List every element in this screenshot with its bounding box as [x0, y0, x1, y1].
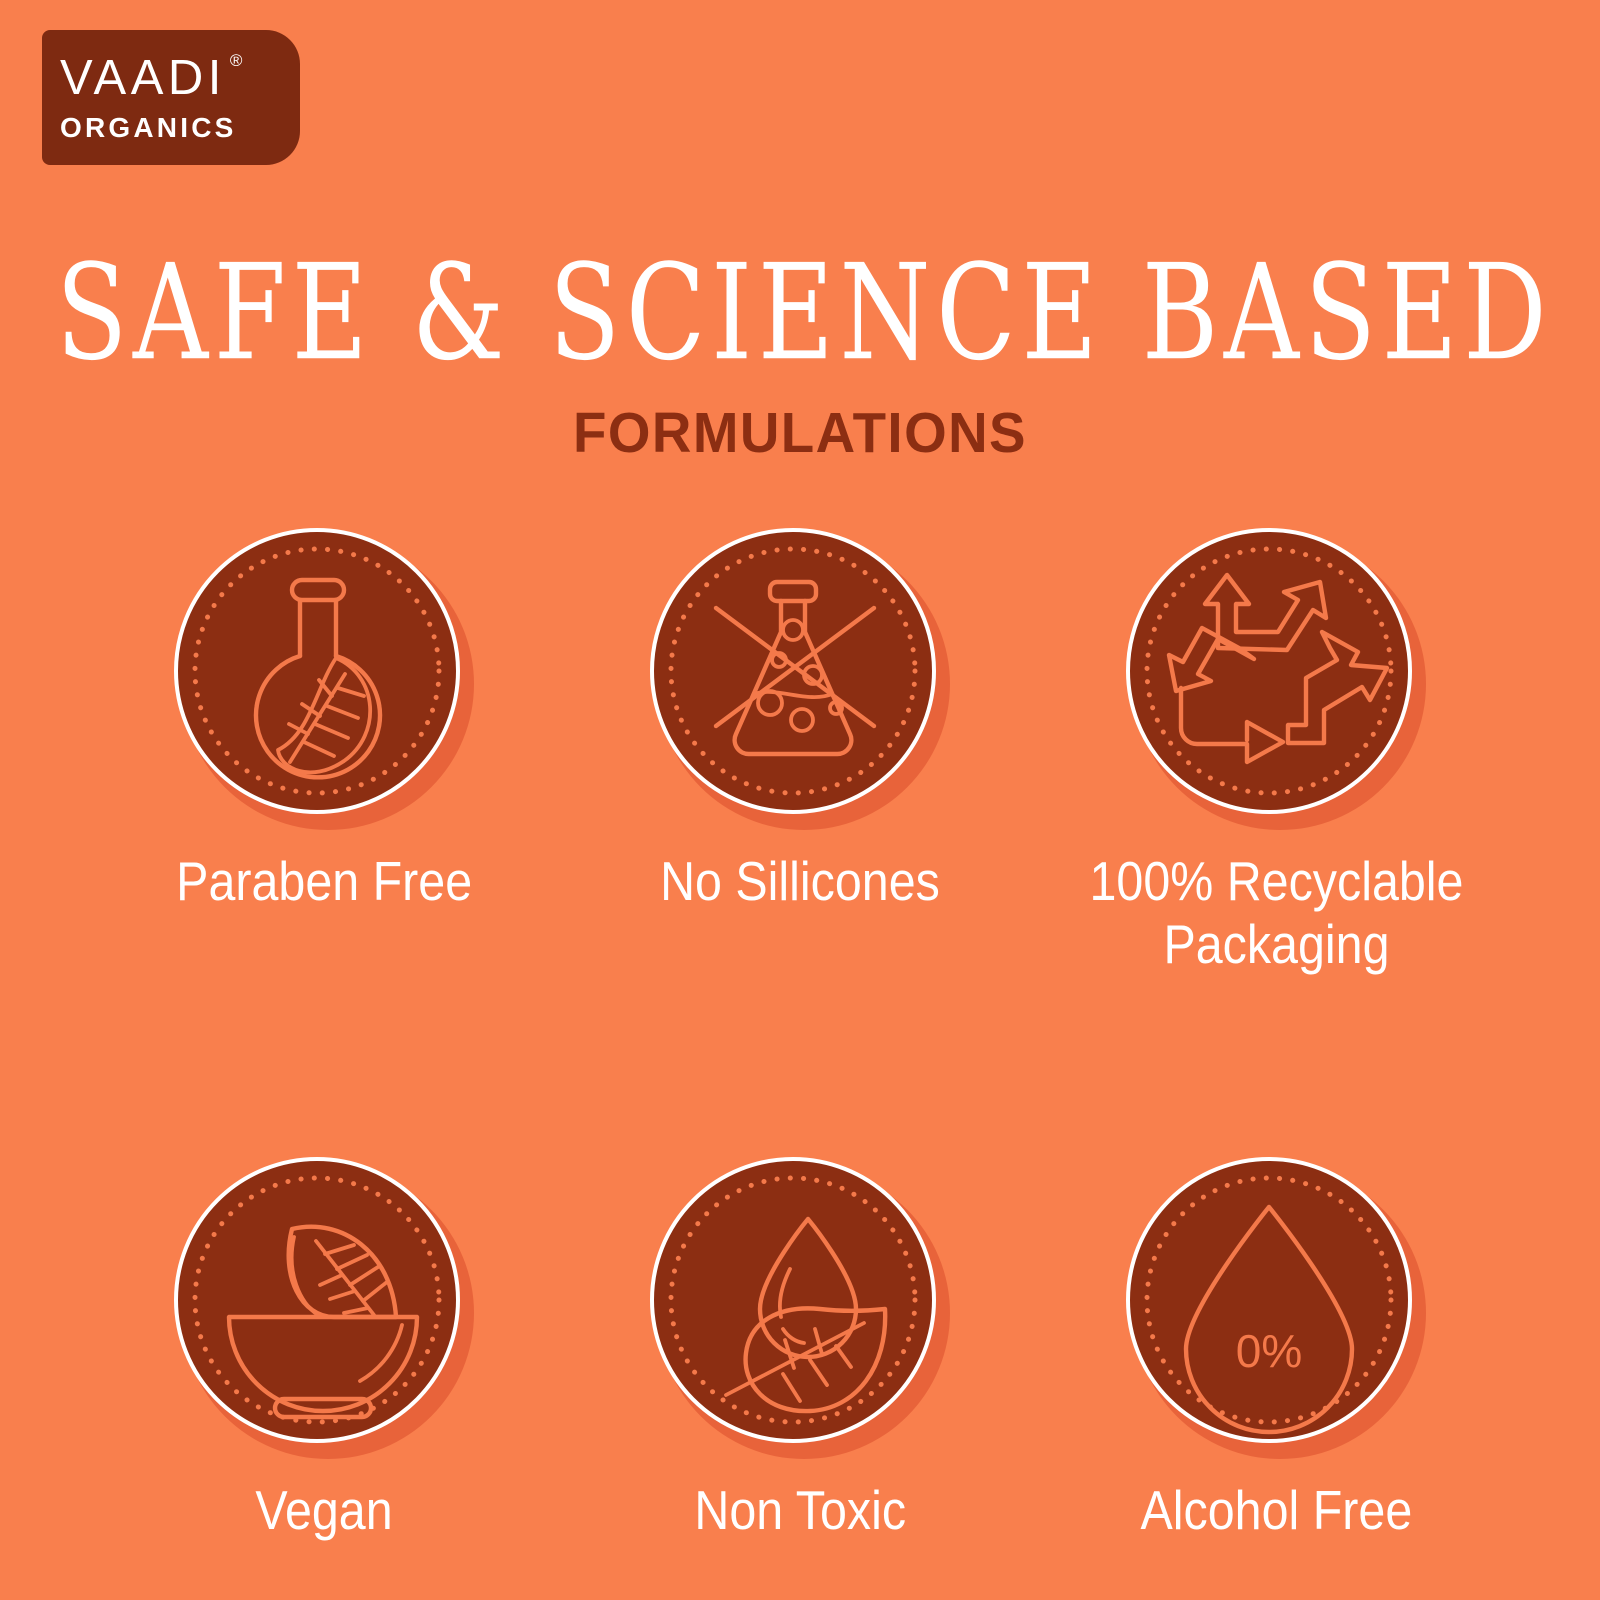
round-flask-leaf-icon: [174, 528, 460, 814]
feature-no-sillicones[interactable]: No Sillicones: [562, 528, 1038, 913]
feature-row-top: Paraben Free: [0, 528, 1600, 975]
badge-paraben-free[interactable]: [174, 528, 474, 828]
feature-recyclable-packaging[interactable]: 100% Recyclable Packaging: [1038, 528, 1514, 975]
feature-alcohol-free[interactable]: 0% Alcohol Free: [1038, 1157, 1514, 1542]
feature-label: Vegan: [255, 1479, 392, 1542]
droplet-on-leaf-icon: [650, 1157, 936, 1443]
feature-label: Alcohol Free: [1140, 1479, 1412, 1542]
brand-wordmark: VAADI ®: [60, 54, 226, 103]
badge-vegan[interactable]: [174, 1157, 474, 1457]
badge-non-toxic[interactable]: [650, 1157, 950, 1457]
feature-row-bottom: Vegan: [0, 1157, 1600, 1542]
feature-label: No Sillicones: [660, 850, 940, 913]
droplet-zero-percent-icon: 0%: [1126, 1157, 1412, 1443]
feature-vegan[interactable]: Vegan: [86, 1157, 562, 1542]
badge-no-sillicones[interactable]: [650, 528, 950, 828]
badge-recyclable-packaging[interactable]: [1126, 528, 1426, 828]
brand-wordmark-text: VAADI: [60, 51, 226, 105]
droplet-zero-percent-label: 0%: [1236, 1325, 1302, 1377]
feature-non-toxic[interactable]: Non Toxic: [562, 1157, 1038, 1542]
feature-label: 100% Recyclable Packaging: [1089, 850, 1463, 975]
brand-logo: VAADI ® ORGANICS: [42, 30, 300, 165]
feature-paraben-free[interactable]: Paraben Free: [86, 528, 562, 913]
bowl-with-leaf-icon: [174, 1157, 460, 1443]
feature-label: Non Toxic: [694, 1479, 906, 1542]
feature-label: Paraben Free: [176, 850, 472, 913]
brand-tagline: ORGANICS: [60, 114, 237, 142]
badge-alcohol-free[interactable]: 0%: [1126, 1157, 1426, 1457]
page-subtitle: FORMULATIONS: [32, 405, 1568, 462]
registered-trademark-icon: ®: [230, 52, 247, 69]
crossed-out-flask-icon: [650, 528, 936, 814]
feature-badge-grid: Paraben Free: [0, 528, 1600, 1542]
page-title: SAFE & SCIENCE BASED: [56, 245, 1544, 384]
recycle-arrows-icon: [1126, 528, 1412, 814]
